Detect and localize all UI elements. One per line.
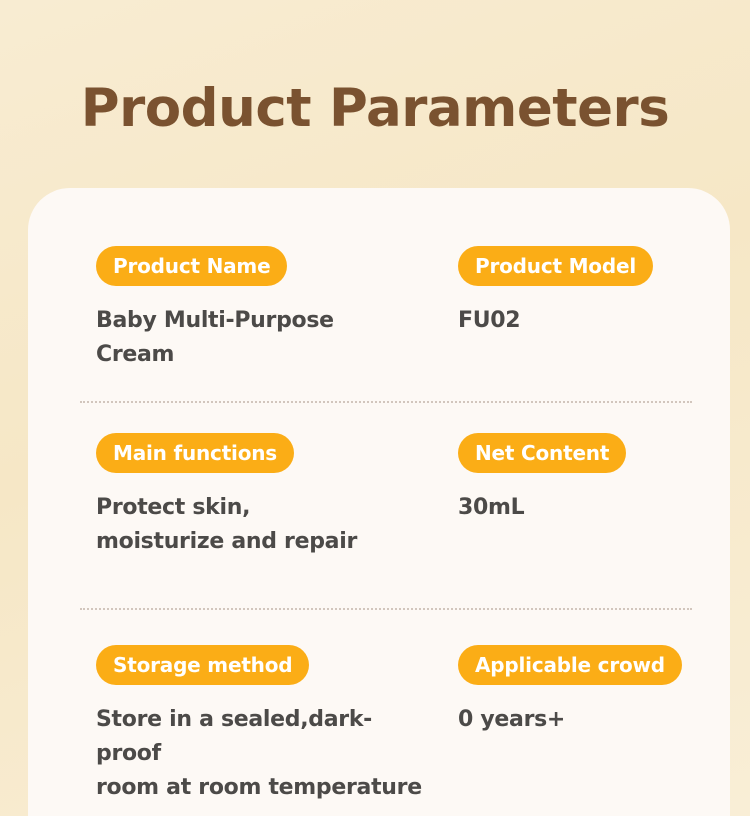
spec-cell-product-model: Product Model FU02 xyxy=(458,246,708,338)
spec-value-applicable-crowd: 0 years+ xyxy=(458,703,708,737)
spec-label-storage-method: Storage method xyxy=(96,645,309,685)
spec-card: Product Name Baby Multi-Purpose Cream Pr… xyxy=(28,188,730,816)
spec-cell-net-content: Net Content 30mL xyxy=(458,433,708,525)
spec-value-product-name: Baby Multi-Purpose Cream xyxy=(96,304,426,372)
product-parameters-page: Product Parameters Product Name Baby Mul… xyxy=(0,0,750,816)
spec-cell-applicable-crowd: Applicable crowd 0 years+ xyxy=(458,645,708,737)
divider-2 xyxy=(80,608,692,610)
spec-cell-main-functions: Main functions Protect skin, moisturize … xyxy=(96,433,426,559)
spec-label-product-name: Product Name xyxy=(96,246,287,286)
spec-label-net-content: Net Content xyxy=(458,433,626,473)
spec-label-main-functions: Main functions xyxy=(96,433,294,473)
spec-value-storage-method: Store in a sealed,dark-proof room at roo… xyxy=(96,703,426,805)
spec-label-product-model: Product Model xyxy=(458,246,653,286)
divider-1 xyxy=(80,401,692,403)
spec-cell-storage-method: Storage method Store in a sealed,dark-pr… xyxy=(96,645,426,805)
spec-cell-product-name: Product Name Baby Multi-Purpose Cream xyxy=(96,246,426,372)
spec-value-main-functions: Protect skin, moisturize and repair xyxy=(96,491,426,559)
spec-label-applicable-crowd: Applicable crowd xyxy=(458,645,682,685)
spec-value-product-model: FU02 xyxy=(458,304,708,338)
spec-value-net-content: 30mL xyxy=(458,491,708,525)
page-title: Product Parameters xyxy=(0,73,750,145)
